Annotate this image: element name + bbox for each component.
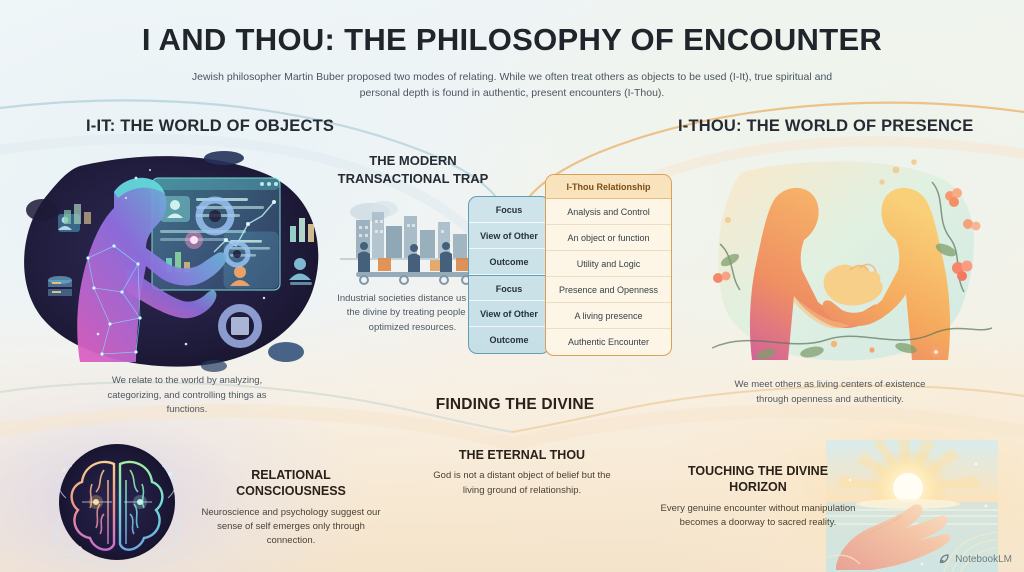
bottom-column-heading: TOUCHING THE DIVINE HORIZON (660, 463, 856, 496)
bottom-column-body: Neuroscience and psychology suggest our … (196, 506, 386, 549)
illustration-neural-brain (42, 440, 192, 572)
page-title: I AND THOU: THE PHILOSOPHY OF ENCOUNTER (0, 22, 1024, 58)
watermark-label: NotebookLM (955, 554, 1012, 565)
table-cell-value: An object or function (546, 225, 671, 251)
table-column-header: I-Thou Relationship (546, 175, 671, 199)
table-row-label: Focus (469, 275, 549, 301)
bottom-column-eternal-thou: THE ETERNAL THOU God is not a distant ob… (432, 447, 612, 498)
table-cell-value: Utility and Logic (546, 251, 671, 277)
table-row-label: View of Other (469, 223, 549, 249)
poster-header: I AND THOU: THE PHILOSOPHY OF ENCOUNTER … (0, 22, 1024, 102)
bottom-column-relational-consciousness: RELATIONAL CONSCIOUSNESS Neuroscience an… (196, 467, 386, 548)
watermark: NotebookLM (939, 553, 1012, 565)
table-cell-value: Analysis and Control (546, 199, 671, 225)
bottom-column-divine-horizon: TOUCHING THE DIVINE HORIZON Every genuin… (660, 463, 856, 530)
middle-heading: THE MODERN TRANSACTIONAL TRAP (318, 152, 508, 187)
notebooklm-logo-icon (939, 553, 951, 565)
table-cell-value: Authentic Encounter (546, 329, 671, 355)
bottom-column-heading: RELATIONAL CONSCIOUSNESS (196, 467, 386, 500)
page-subtitle: Jewish philosopher Martin Buber proposed… (182, 69, 842, 102)
table-row-label: Focus (469, 197, 549, 223)
table-row-label: Outcome (469, 249, 549, 275)
table-cell-value: Presence and Openness (546, 277, 671, 303)
bottom-column-body: God is not a distant object of belief bu… (432, 469, 612, 498)
section-heading-i-it: I-IT: THE WORLD OF OBJECTS (86, 117, 334, 136)
section-heading-i-thou: I-THOU: THE WORLD OF PRESENCE (678, 117, 973, 136)
bottom-column-heading: THE ETERNAL THOU (432, 447, 612, 463)
caption-i-thou: We meet others as living centers of exis… (718, 378, 942, 407)
table-cell-value: A living presence (546, 303, 671, 329)
bottom-column-body: Every genuine encounter without manipula… (660, 502, 856, 531)
illustration-i-it-digital-interaction (18, 148, 328, 373)
table-row-label: View of Other (469, 301, 549, 327)
bottom-section-heading: FINDING THE DIVINE (400, 396, 630, 414)
caption-i-it: We relate to the world by analyzing, cat… (92, 374, 282, 418)
illustration-i-thou-encounter (700, 152, 1000, 372)
comparison-values-column: I-Thou Relationship Analysis and Control… (545, 174, 672, 356)
table-row-label: Outcome (469, 327, 549, 353)
comparison-row-labels: Focus View of Other Outcome Focus View o… (468, 196, 550, 354)
infographic-poster: I AND THOU: THE PHILOSOPHY OF ENCOUNTER … (0, 0, 1024, 572)
